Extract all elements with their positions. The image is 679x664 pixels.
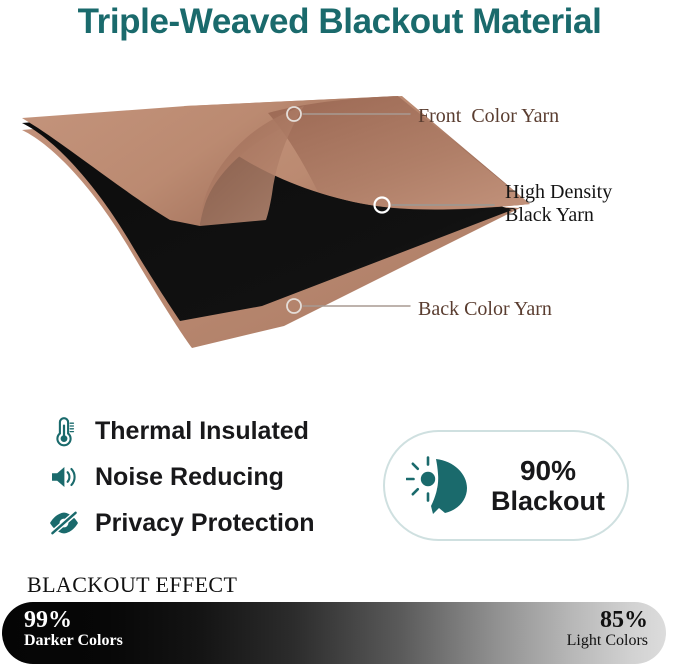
feature-list: Thermal Insulated Noise Reducing — [44, 408, 364, 546]
blackout-badge-text: 90% Blackout — [491, 455, 605, 517]
eye-slash-icon — [44, 505, 84, 541]
feature-row-privacy: Privacy Protection — [44, 500, 364, 546]
blackout-badge: 90% Blackout — [383, 430, 629, 541]
blackout-word: Blackout — [491, 486, 605, 516]
feature-label-privacy: Privacy Protection — [95, 509, 315, 538]
page-title: Triple-Weaved Blackout Material — [0, 2, 679, 42]
blackout-percent: 90% — [491, 455, 605, 486]
blackout-stat-darker: 99% Darker Colors — [24, 608, 123, 650]
sun-blocked-icon — [403, 448, 479, 524]
callout-label-front: Front Color Yarn — [418, 105, 559, 128]
blackout-stat-darker-percent: 99% — [24, 608, 123, 633]
feature-row-thermal: Thermal Insulated — [44, 408, 364, 454]
speaker-icon — [44, 459, 84, 495]
blackout-stat-light-caption: Light Colors — [498, 633, 648, 650]
feature-row-noise: Noise Reducing — [44, 454, 364, 500]
feature-label-noise: Noise Reducing — [95, 463, 284, 492]
blackout-stat-light: 85% Light Colors — [498, 608, 648, 650]
blackout-stat-light-percent: 85% — [498, 608, 648, 633]
callout-label-middle: High Density Black Yarn — [505, 181, 612, 227]
thermometer-icon — [44, 413, 84, 449]
feature-label-thermal: Thermal Insulated — [95, 417, 309, 446]
blackout-effect-title: BLACKOUT EFFECT — [27, 572, 237, 598]
callout-label-back: Back Color Yarn — [418, 298, 552, 321]
blackout-stat-darker-caption: Darker Colors — [24, 633, 123, 650]
